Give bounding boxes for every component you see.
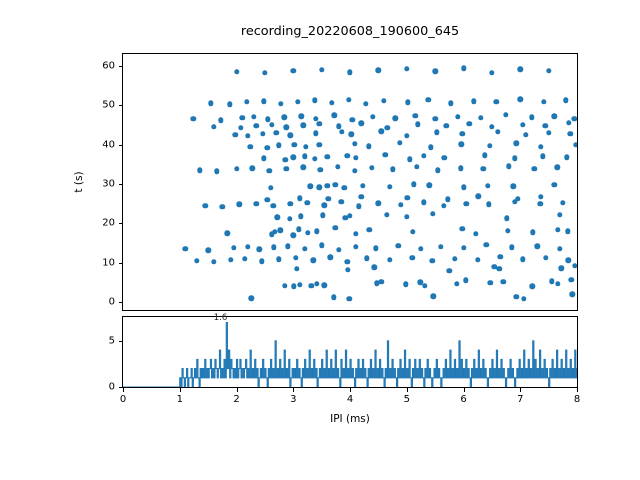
scatter-point	[359, 121, 364, 126]
scatter-point	[344, 259, 349, 264]
scatter-point	[292, 142, 297, 147]
scatter-point	[530, 230, 535, 235]
scatter-point	[481, 166, 486, 171]
hist-ytick	[119, 387, 123, 388]
scatter-point	[458, 166, 463, 171]
scatter-point	[287, 216, 292, 221]
scatter-point	[543, 123, 548, 128]
scatter-point	[259, 258, 264, 263]
scatter-point	[538, 144, 543, 149]
scatter-point	[487, 143, 492, 148]
histogram-x-axis-label: IPI (ms)	[330, 413, 370, 425]
scatter-point	[225, 230, 230, 235]
scatter-point	[381, 98, 386, 103]
scatter-point	[356, 204, 361, 209]
scatter-point	[191, 116, 196, 121]
scatter-point	[552, 114, 557, 119]
scatter-point	[234, 69, 239, 74]
scatter-point	[211, 259, 216, 264]
scatter-point	[245, 244, 250, 249]
hist-xtick	[520, 388, 521, 392]
hist-xtick	[180, 388, 181, 392]
scatter-point	[379, 279, 384, 284]
scatter-point	[546, 68, 551, 73]
scatter-point	[570, 292, 575, 297]
scatter-point	[558, 266, 563, 271]
scatter-point	[379, 128, 384, 133]
scatter-point	[261, 156, 266, 161]
scatter-point	[422, 283, 427, 288]
scatter-point	[376, 67, 381, 72]
scatter-point	[288, 132, 293, 137]
scatter-point	[512, 156, 517, 161]
hist-xtick-label: 6	[460, 394, 466, 405]
scatter-point	[573, 142, 578, 147]
scatter-point	[441, 203, 446, 208]
hist-xtick-label: 7	[517, 394, 523, 405]
scatter-point	[473, 231, 478, 236]
scatter-point	[503, 112, 508, 117]
scatter-point	[360, 183, 365, 188]
scatter-point	[518, 67, 523, 72]
scatter-point	[347, 296, 352, 301]
scatter-point	[353, 244, 358, 249]
raster-y-axis-label: t (s)	[73, 171, 85, 192]
scatter-point	[288, 201, 293, 206]
scatter-point	[331, 113, 336, 118]
scatter-point	[271, 203, 276, 208]
scatter-point	[435, 167, 440, 172]
scatter-point	[464, 201, 469, 206]
ipi-histogram-axes	[122, 316, 578, 388]
raster-ytick-label: 10	[80, 257, 115, 268]
scatter-point	[564, 154, 569, 159]
scatter-point	[426, 97, 431, 102]
scatter-point	[291, 154, 296, 159]
scatter-point	[418, 246, 423, 251]
scatter-point	[352, 141, 357, 146]
scatter-point	[555, 281, 560, 286]
scatter-point	[455, 114, 460, 119]
scatter-point	[254, 123, 259, 128]
scatter-point	[326, 196, 331, 201]
scatter-point	[541, 99, 546, 104]
scatter-point	[325, 154, 330, 159]
scatter-point	[331, 295, 336, 300]
scatter-point	[220, 204, 225, 209]
scatter-point	[245, 133, 250, 138]
scatter-point	[284, 125, 289, 130]
scatter-point	[342, 185, 347, 190]
scatter-point	[242, 256, 247, 261]
scatter-point	[302, 154, 307, 159]
scatter-point	[208, 101, 213, 106]
scatter-point	[247, 144, 252, 149]
scatter-point	[397, 140, 402, 145]
scatter-point	[461, 65, 466, 70]
raster-ytick	[119, 223, 123, 224]
hist-xtick	[577, 388, 578, 392]
scatter-point	[447, 268, 452, 273]
hist-ytick-label: 0	[80, 382, 115, 393]
hist-xtick-label: 8	[574, 394, 580, 405]
scatter-point	[566, 258, 571, 263]
scatter-point	[461, 184, 466, 189]
scatter-point	[267, 168, 272, 173]
scatter-point	[347, 213, 352, 218]
hist-xtick-label: 1	[177, 394, 183, 405]
scatter-point	[320, 213, 325, 218]
scatter-point	[549, 279, 554, 284]
scatter-point	[520, 122, 525, 127]
scatter-point	[269, 122, 274, 127]
scatter-point	[557, 246, 562, 251]
scatter-point	[197, 167, 202, 172]
scatter-point	[227, 102, 232, 107]
scatter-point	[335, 164, 340, 169]
scatter-point	[317, 184, 322, 189]
scatter-point	[430, 258, 435, 263]
scatter-point	[498, 254, 503, 259]
scatter-point	[336, 247, 341, 252]
hist-xtick-label: 5	[404, 394, 410, 405]
scatter-point	[218, 117, 223, 122]
raster-ytick	[119, 302, 123, 303]
scatter-point	[410, 255, 415, 260]
scatter-point	[546, 130, 551, 135]
scatter-point	[438, 244, 443, 249]
scatter-point	[421, 200, 426, 205]
scatter-point	[256, 247, 261, 252]
scatter-point	[537, 201, 542, 206]
scatter-point	[238, 125, 243, 130]
scatter-point	[348, 132, 353, 137]
scatter-point	[308, 184, 313, 189]
scatter-point	[387, 184, 392, 189]
scatter-point	[543, 255, 548, 260]
scatter-point	[244, 99, 249, 104]
scatter-point	[264, 145, 269, 150]
scatter-point	[297, 195, 302, 200]
scatter-point	[557, 212, 562, 217]
scatter-point	[486, 202, 491, 207]
scatter-point	[466, 121, 471, 126]
scatter-point	[239, 115, 244, 120]
scatter-point	[413, 113, 418, 118]
scatter-point	[325, 183, 330, 188]
scatter-point	[571, 116, 576, 121]
scatter-point	[233, 132, 238, 137]
hist-ytick-label: 5	[80, 335, 115, 346]
scatter-point	[563, 98, 568, 103]
scatter-point	[495, 129, 500, 134]
scatter-point	[514, 141, 519, 146]
scatter-point	[387, 257, 392, 262]
raster-scatter-axes	[122, 53, 578, 311]
hist-xtick	[237, 388, 238, 392]
scatter-point	[339, 129, 344, 134]
scatter-point	[404, 133, 409, 138]
scatter-point	[385, 125, 390, 130]
scatter-point	[452, 256, 457, 261]
hist-xtick	[293, 388, 294, 392]
scatter-point	[415, 122, 420, 127]
hist-xtick-label: 0	[120, 394, 126, 405]
scatter-point	[250, 166, 255, 171]
scatter-point	[314, 229, 319, 234]
scatter-point	[301, 123, 306, 128]
scatter-point	[333, 225, 338, 230]
scatter-point	[261, 99, 266, 104]
histogram-peak-annotation: 1.6	[214, 313, 228, 323]
scatter-point	[265, 117, 270, 122]
scatter-point	[511, 184, 516, 189]
scatter-point	[487, 280, 492, 285]
scatter-point	[445, 197, 450, 202]
scatter-point	[476, 193, 481, 198]
raster-ytick	[119, 184, 123, 185]
scatter-point	[506, 164, 511, 169]
scatter-point	[214, 169, 219, 174]
scatter-point	[352, 168, 357, 173]
scatter-point	[344, 153, 349, 158]
scatter-point	[333, 182, 338, 187]
scatter-point	[203, 203, 208, 208]
scatter-point	[552, 182, 557, 187]
hist-xtick-label: 2	[233, 394, 239, 405]
scatter-point	[254, 201, 259, 206]
scatter-point	[285, 243, 290, 248]
scatter-point	[262, 70, 267, 75]
scatter-point	[347, 69, 352, 74]
scatter-point	[442, 155, 447, 160]
scatter-point	[535, 243, 540, 248]
scatter-point	[569, 277, 574, 282]
scatter-point	[278, 101, 283, 106]
scatter-point	[421, 153, 426, 158]
scatter-point	[350, 117, 355, 122]
scatter-point	[249, 295, 254, 300]
matplotlib-figure: recording_20220608_190600_645 0102030405…	[0, 0, 640, 480]
scatter-point	[310, 258, 315, 263]
scatter-point	[532, 166, 537, 171]
scatter-point	[294, 266, 299, 271]
scatter-point	[312, 156, 317, 161]
scatter-point	[382, 152, 387, 157]
scatter-point	[485, 183, 490, 188]
scatter-point	[407, 156, 412, 161]
scatter-point	[520, 256, 525, 261]
scatter-point	[396, 243, 401, 248]
scatter-point	[364, 256, 369, 261]
raster-ytick-label: 0	[80, 297, 115, 308]
scatter-point	[434, 130, 439, 135]
scatter-point	[296, 227, 301, 232]
scatter-point	[444, 123, 449, 128]
scatter-point	[538, 194, 543, 199]
scatter-point	[271, 245, 276, 250]
scatter-point	[482, 153, 487, 158]
scatter-point	[432, 116, 437, 121]
scatter-point	[260, 131, 265, 136]
scatter-point	[403, 282, 408, 287]
scatter-point	[390, 167, 395, 172]
raster-ytick-label: 40	[80, 139, 115, 150]
scatter-point	[281, 115, 286, 120]
hist-xtick	[407, 388, 408, 392]
scatter-point	[376, 201, 381, 206]
scatter-point	[555, 227, 560, 232]
scatter-point	[309, 283, 314, 288]
scatter-point	[293, 255, 298, 260]
scatter-point	[283, 157, 288, 162]
scatter-point	[411, 182, 416, 187]
scatter-point	[384, 212, 389, 217]
scatter-point	[346, 97, 351, 102]
scatter-point	[231, 245, 236, 250]
scatter-point	[234, 166, 239, 171]
raster-ytick-label: 20	[80, 218, 115, 229]
scatter-point	[494, 99, 499, 104]
scatter-point	[454, 281, 459, 286]
scatter-point	[276, 256, 281, 261]
scatter-point	[322, 282, 327, 287]
scatter-point	[319, 67, 324, 72]
scatter-point	[268, 185, 273, 190]
scatter-point	[317, 142, 322, 147]
scatter-point	[319, 243, 324, 248]
scatter-point	[463, 278, 468, 283]
scatter-point	[251, 114, 256, 119]
scatter-point	[565, 229, 570, 234]
scatter-point	[363, 101, 368, 106]
scatter-point	[329, 100, 334, 105]
scatter-point	[291, 284, 296, 289]
scatter-point	[264, 197, 269, 202]
scatter-point	[560, 200, 565, 205]
scatter-point	[404, 66, 409, 71]
scatter-point	[475, 257, 480, 262]
scatter-point	[483, 242, 488, 247]
scatter-point	[471, 99, 476, 104]
hist-xtick-label: 4	[347, 394, 353, 405]
scatter-point	[521, 296, 526, 301]
scatter-point	[277, 228, 282, 233]
hist-xtick	[350, 388, 351, 392]
raster-ytick	[119, 263, 123, 264]
scatter-point	[460, 131, 465, 136]
scatter-point	[430, 211, 435, 216]
raster-ytick-label: 30	[80, 178, 115, 189]
scatter-point	[372, 265, 377, 270]
scatter-point	[370, 114, 375, 119]
hist-ytick	[119, 341, 123, 342]
scatter-point	[572, 263, 577, 268]
scatter-point	[501, 279, 506, 284]
scatter-point	[489, 124, 494, 129]
scatter-point	[284, 166, 289, 171]
scatter-point	[298, 114, 303, 119]
scatter-point	[448, 101, 453, 106]
scatter-point	[566, 120, 571, 125]
scatter-point	[505, 228, 510, 233]
scatter-point	[276, 143, 281, 148]
scatter-point	[183, 246, 188, 251]
scatter-point	[205, 247, 210, 252]
figure-title: recording_20220608_190600_645	[122, 24, 578, 40]
scatter-point	[529, 284, 534, 289]
scatter-point	[327, 255, 332, 260]
scatter-point	[318, 167, 323, 172]
scatter-point	[305, 200, 310, 205]
scatter-point	[302, 246, 307, 251]
hist-xtick	[464, 388, 465, 392]
scatter-point	[461, 245, 466, 250]
hist-xtick	[123, 388, 124, 392]
scatter-point	[523, 132, 528, 137]
raster-ytick-label: 50	[80, 100, 115, 111]
scatter-point	[317, 121, 322, 126]
histogram-step-curve	[123, 317, 577, 387]
raster-ytick	[119, 105, 123, 106]
scatter-point	[367, 227, 372, 232]
scatter-point	[459, 141, 464, 146]
scatter-point	[405, 195, 410, 200]
scatter-point	[529, 115, 534, 120]
scatter-point	[404, 214, 409, 219]
scatter-point	[282, 283, 287, 288]
scatter-point	[297, 282, 302, 287]
scatter-point	[291, 232, 296, 237]
scatter-point	[274, 130, 279, 135]
scatter-point	[303, 144, 308, 149]
scatter-point	[353, 155, 358, 160]
scatter-point	[460, 226, 465, 231]
scatter-point	[431, 294, 436, 299]
scatter-point	[428, 145, 433, 150]
scatter-point	[554, 165, 559, 170]
scatter-point	[432, 69, 437, 74]
scatter-point	[366, 143, 371, 148]
scatter-point	[359, 194, 364, 199]
scatter-point	[305, 230, 310, 235]
scatter-point	[322, 203, 327, 208]
scatter-point	[353, 231, 358, 236]
scatter-point	[567, 131, 572, 136]
scatter-point	[312, 98, 317, 103]
scatter-point	[301, 165, 306, 170]
scatter-point	[339, 199, 344, 204]
scatter-point	[497, 266, 502, 271]
scatter-point	[414, 164, 419, 169]
scatter-point	[518, 97, 523, 102]
scatter-point	[405, 100, 410, 105]
scatter-point	[512, 199, 517, 204]
scatter-point	[373, 245, 378, 250]
scatter-point	[393, 115, 398, 120]
scatter-point	[427, 182, 432, 187]
scatter-point	[514, 294, 519, 299]
scatter-point	[313, 130, 318, 135]
scatter-point	[314, 281, 319, 286]
scatter-point	[489, 70, 494, 75]
scatter-point	[410, 229, 415, 234]
scatter-point	[228, 257, 233, 262]
scatter-point	[237, 202, 242, 207]
scatter-point	[478, 115, 483, 120]
hist-xtick-label: 3	[290, 394, 296, 405]
scatter-point	[211, 124, 216, 129]
